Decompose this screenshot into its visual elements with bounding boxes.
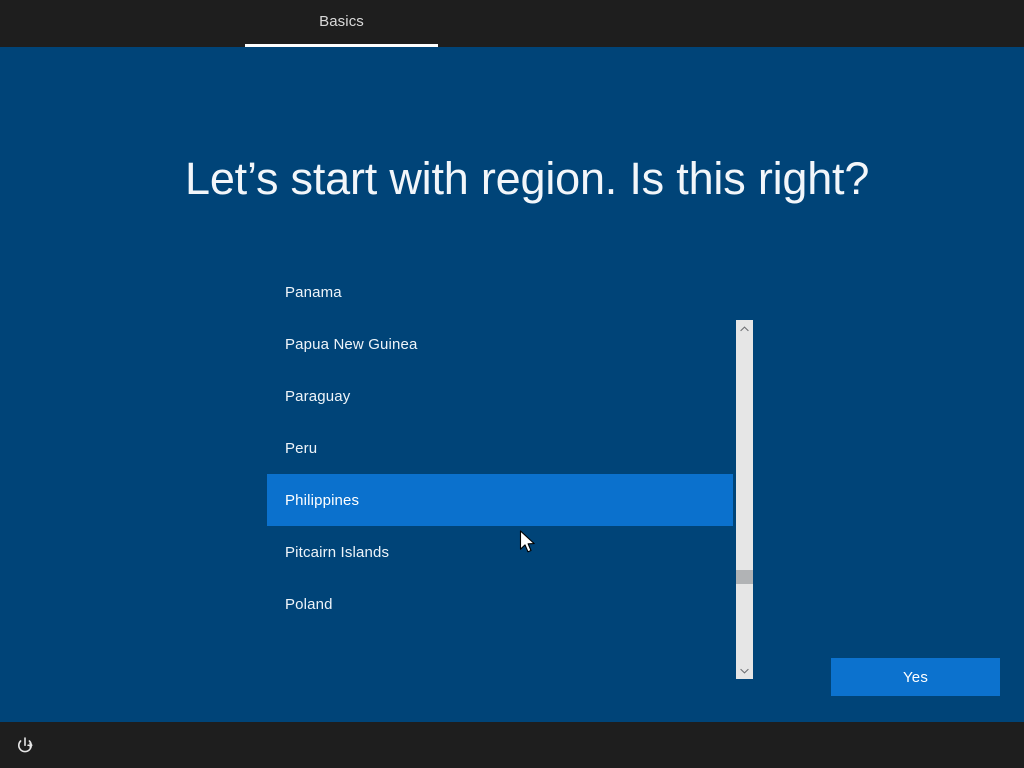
region-list[interactable]: Panama Papua New Guinea Paraguay Peru Ph… <box>267 266 757 637</box>
scrollbar-track[interactable] <box>736 337 753 662</box>
list-item-label: Philippines <box>285 492 359 509</box>
list-item-selected[interactable]: Philippines <box>267 474 733 526</box>
main-stage: Let’s start with region. Is this right? … <box>0 47 1024 722</box>
list-item-label: Panama <box>285 284 342 301</box>
list-item[interactable]: Peru <box>267 422 733 474</box>
list-item[interactable]: Paraguay <box>267 370 733 422</box>
list-item-label: Pitcairn Islands <box>285 544 389 561</box>
chevron-down-icon[interactable] <box>736 662 753 679</box>
list-item-label: Peru <box>285 440 317 457</box>
chevron-up-icon[interactable] <box>736 320 753 337</box>
list-item[interactable]: Papua New Guinea <box>267 318 733 370</box>
list-item-label: Poland <box>285 596 333 613</box>
tab-basics[interactable]: Basics <box>245 0 438 47</box>
list-item-label: Paraguay <box>285 388 350 405</box>
page-title: Let’s start with region. Is this right? <box>185 153 869 205</box>
list-item[interactable]: Panama <box>267 266 733 318</box>
tab-basics-label: Basics <box>319 14 364 33</box>
top-chrome-bar: Basics <box>0 0 1024 47</box>
yes-button[interactable]: Yes <box>831 658 1000 696</box>
oobe-screen: Basics Let’s start with region. Is this … <box>0 0 1024 768</box>
list-item[interactable]: Pitcairn Islands <box>267 526 733 578</box>
region-list-items: Panama Papua New Guinea Paraguay Peru Ph… <box>267 266 733 630</box>
list-item[interactable]: Poland <box>267 578 733 630</box>
bottom-chrome-bar <box>0 722 1024 768</box>
scrollbar-thumb[interactable] <box>736 570 753 584</box>
region-list-scrollbar[interactable] <box>736 320 753 679</box>
power-icon[interactable] <box>11 732 39 760</box>
list-item-label: Papua New Guinea <box>285 336 418 353</box>
